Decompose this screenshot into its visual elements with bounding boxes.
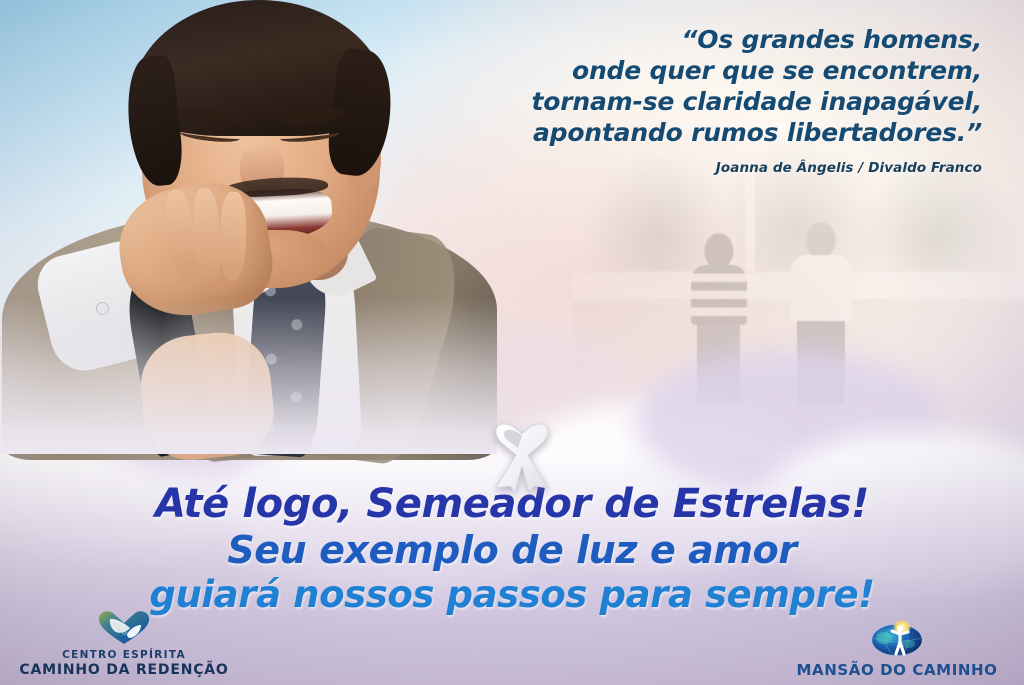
logo-mansao-do-caminho: MANSÃO DO CAMINHO <box>782 618 1012 679</box>
logo-left-line-2: CAMINHO DA REDENÇÃO <box>14 662 234 679</box>
logo-left-line-1: CENTRO ESPÍRITA <box>14 649 234 662</box>
quote-line-4: apontando rumos libertadores.” <box>422 117 982 148</box>
logo-centro-espirita: CENTRO ESPÍRITA CAMINHO DA REDENÇÃO <box>14 608 234 679</box>
logo-right-line-1: MANSÃO DO CAMINHO <box>782 661 1012 679</box>
headline-line-2: Seu exemplo de luz e amor <box>0 531 1024 569</box>
quote-line-1: “Os grandes homens, <box>422 24 982 55</box>
headline-block: Até logo, Semeador de Estrelas! Seu exem… <box>0 484 1024 613</box>
heart-hands-icon <box>97 608 151 646</box>
portrait-bottom-fade <box>0 298 497 454</box>
white-mourning-ribbon-icon <box>484 408 560 492</box>
quote-line-2: onde quer que se encontrem, <box>422 55 982 86</box>
quote-block: “Os grandes homens, onde quer que se enc… <box>422 24 982 176</box>
memorial-poster: “Os grandes homens, onde quer que se enc… <box>0 0 1024 685</box>
quote-line-3: tornam-se claridade inapagável, <box>422 86 982 117</box>
globe-figure-icon <box>870 618 924 658</box>
quote-attribution: Joanna de Ângelis / Divaldo Franco <box>422 160 982 176</box>
